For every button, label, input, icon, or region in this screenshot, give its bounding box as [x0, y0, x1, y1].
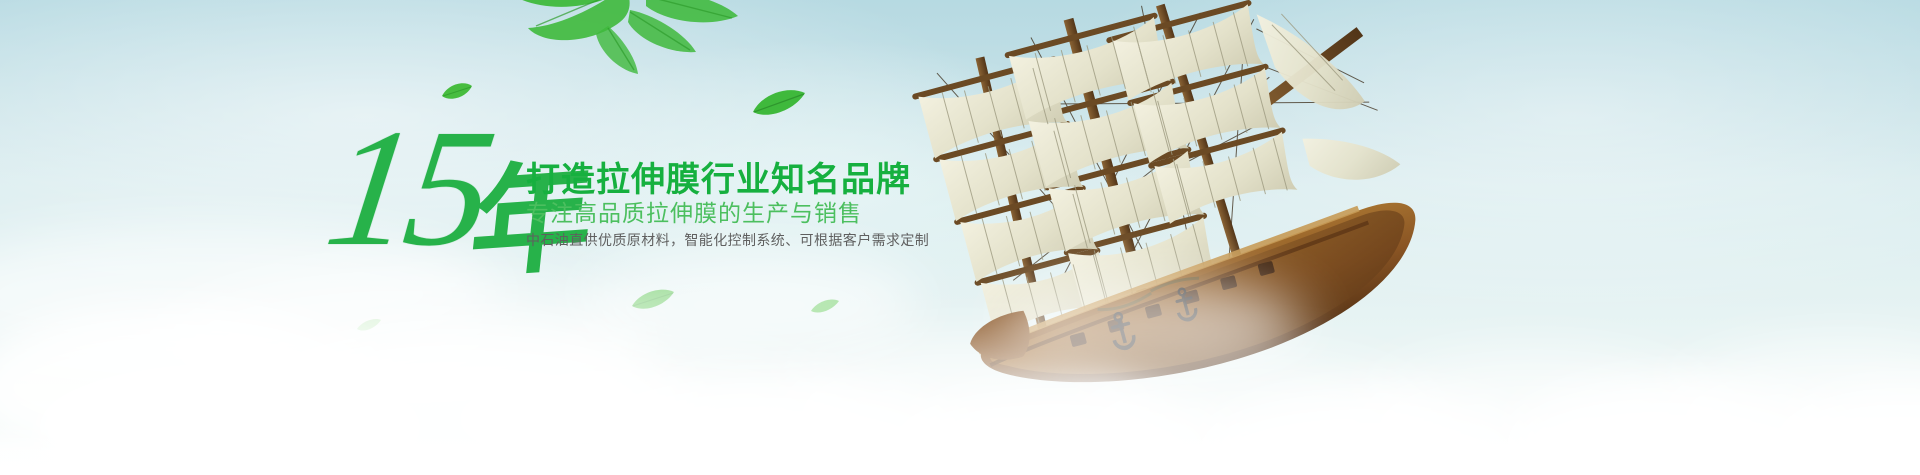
leaf-falling-3	[630, 288, 676, 314]
leaf-cluster-top	[470, 0, 770, 80]
headline-copy-block: 15年 打造拉伸膜行业知名品牌 专注高品质拉伸膜的生产与销售 中石油直供优质原材…	[330, 108, 910, 268]
leaf-falling-5	[356, 318, 382, 334]
banner-subline: 专注高品质拉伸膜的生产与销售	[526, 194, 862, 228]
banner-microline: 中石油直供优质原材料，智能化控制系统、可根据客户需求定制	[526, 230, 929, 250]
promo-banner: 15年 打造拉伸膜行业知名品牌 专注高品质拉伸膜的生产与销售 中石油直供优质原材…	[0, 0, 1920, 475]
sailing-ship-illustration	[830, 0, 1470, 390]
